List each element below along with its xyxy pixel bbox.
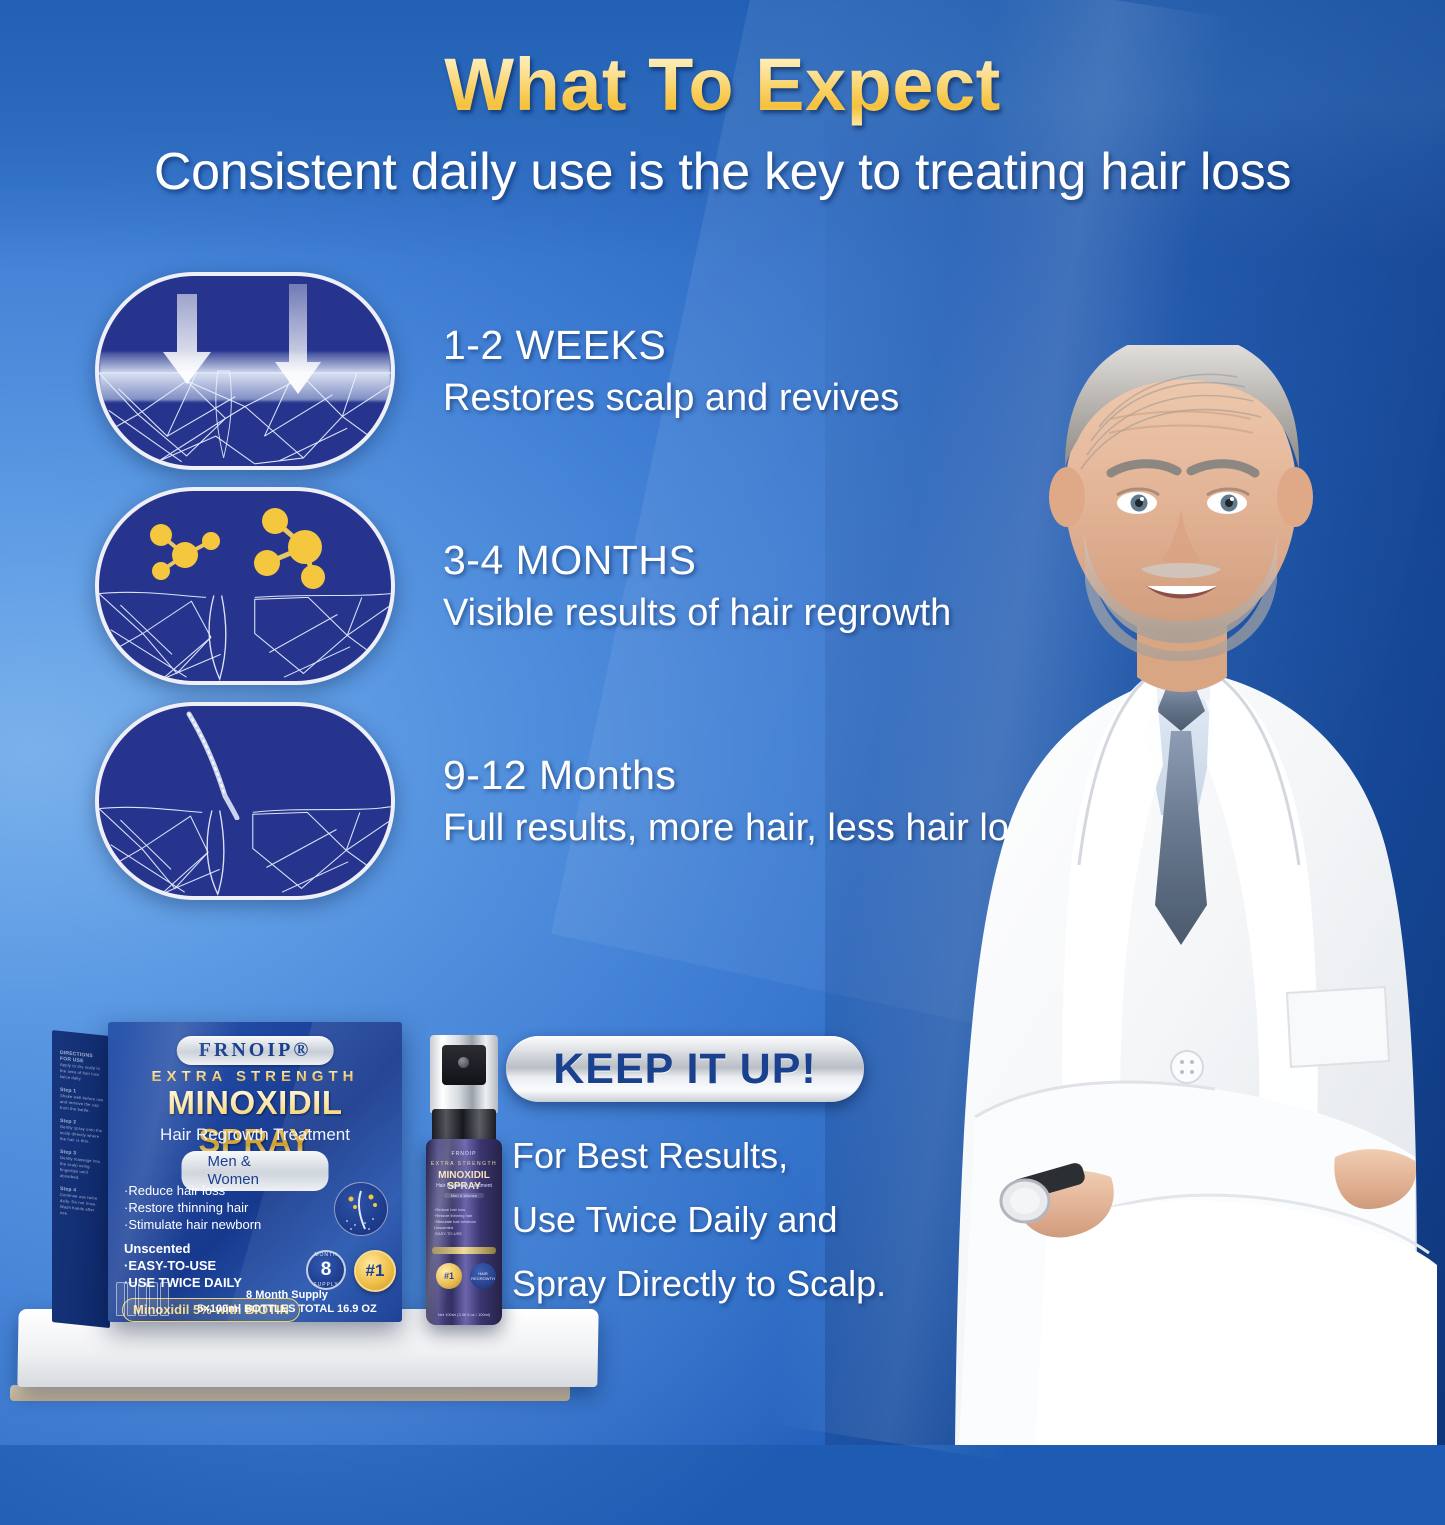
bottle-regrowth-badge: HAIR REGROWTH — [470, 1263, 496, 1289]
skin-mesh-layer — [99, 367, 391, 466]
podium-edge — [10, 1385, 570, 1401]
usage-line-3: Spray Directly to Scalp. — [512, 1263, 886, 1305]
bottle-brand: FRNOIP — [426, 1151, 502, 1157]
keep-it-up-label: KEEP IT UP! — [553, 1045, 816, 1094]
bottle-feature-2: ·EASY-TO-USE — [434, 1231, 476, 1237]
product-benefits: ·Reduce hair loss ·Restore thinning hair… — [124, 1182, 261, 1233]
page-subtitle: Consistent daily use is the key to treat… — [0, 142, 1445, 202]
supply-badge-ring: MONTH SUPPLY — [307, 1251, 345, 1289]
molecule-small-icon — [139, 519, 235, 585]
product-tagline: Hair Regrowth Treatment — [108, 1125, 402, 1145]
timeline-period-2: 3-4 MONTHS — [443, 537, 951, 584]
product-box-side-panel: DIRECTIONS FOR USE Apply to dry scalp in… — [52, 1030, 110, 1328]
doctor-head — [1049, 345, 1313, 661]
bottle-bullets: ·Reduce hair loss ·Restore thinning hair… — [434, 1207, 476, 1237]
timeline-description-1: Restores scalp and revives — [443, 377, 899, 420]
bottle-collar — [432, 1109, 496, 1143]
grown-hair-icon — [95, 702, 395, 900]
rank-badge: #1 — [354, 1250, 396, 1292]
molecule-follicle-icon — [95, 487, 395, 685]
bottle-strength: EXTRA STRENGTH — [426, 1161, 502, 1167]
bottle-body: FRNOIP EXTRA STRENGTH MINOXIDIL SPRAY Ha… — [426, 1139, 502, 1325]
bottle-rank-badge: #1 — [436, 1263, 462, 1289]
skin-mesh-layer — [99, 586, 391, 681]
lab-coat — [955, 667, 1437, 1445]
product-features: Unscented ·EASY-TO-USE ·USE TWICE DAILY — [124, 1240, 242, 1291]
bottle-audience: Men & Women — [444, 1193, 484, 1198]
directions-step-1: Step 1 — [60, 1087, 104, 1098]
timeline-text-2: 3-4 MONTHS Visible results of hair regro… — [443, 537, 951, 635]
keep-it-up-badge: KEEP IT UP! — [506, 1036, 864, 1102]
supply-badge-top: MONTH — [314, 1252, 337, 1258]
doctor-illustration — [915, 345, 1445, 1445]
absorption-arrow-left-icon — [161, 294, 213, 386]
timeline-period-1: 1-2 WEEKS — [443, 322, 899, 369]
product-box-front: FRNOIP® EXTRA STRENGTH MINOXIDIL SPRAY H… — [108, 1022, 402, 1322]
usage-instructions: For Best Results, Use Twice Daily and Sp… — [512, 1135, 886, 1327]
benefit-1: ·Reduce hair loss — [124, 1182, 261, 1199]
timeline-description-2: Visible results of hair regrowth — [443, 592, 951, 635]
supply-line-1: 8 Month Supply — [178, 1288, 396, 1302]
scalp-absorption-icon — [95, 272, 395, 470]
absorption-arrow-right-icon — [275, 284, 323, 396]
bottle-gold-band — [432, 1247, 496, 1254]
benefit-2: ·Restore thinning hair — [124, 1199, 261, 1216]
bottle-nozzle — [442, 1045, 486, 1085]
hair-strand-icon — [155, 710, 275, 820]
benefit-3: ·Stimulate hair newborn — [124, 1216, 261, 1233]
mesh-graphic — [99, 586, 391, 681]
brand-plate: FRNOIP® — [177, 1036, 334, 1065]
page-title: What To Expect — [0, 42, 1445, 127]
directions-text: DIRECTIONS FOR USE Apply to dry scalp in… — [60, 1043, 104, 1316]
bottle-tagline: Hair Regrowth Treatment — [426, 1183, 502, 1189]
scalp-illustration-badge — [334, 1182, 388, 1236]
product-name: MINOXIDIL SPRAY — [108, 1084, 402, 1160]
usage-line-2: Use Twice Daily and — [512, 1199, 886, 1241]
timeline-item-2: 3-4 MONTHS Visible results of hair regro… — [95, 487, 951, 685]
doctor-photo — [915, 345, 1445, 1445]
timeline-item-1: 1-2 WEEKS Restores scalp and revives — [95, 272, 899, 470]
directions-heading: DIRECTIONS FOR USE — [60, 1050, 104, 1067]
brand-name: FRNOIP® — [199, 1039, 312, 1061]
supply-info: 8 Month Supply 5×100ml BOTTLES TOTAL 16.… — [178, 1288, 396, 1316]
directions-step-2: Step 2 — [60, 1118, 104, 1129]
bottle-benefit-3: ·Stimulate hair newborn — [434, 1219, 476, 1225]
product-box: DIRECTIONS FOR USE Apply to dry scalp in… — [52, 1022, 402, 1327]
bottle-count-graphic — [116, 1282, 169, 1316]
timeline-text-1: 1-2 WEEKS Restores scalp and revives — [443, 322, 899, 420]
bottle-volume: Net 100ml (3.38 fl.oz / 100ml) — [426, 1312, 502, 1317]
feature-2: ·EASY-TO-USE — [124, 1257, 242, 1274]
scalp-badge-graphic — [335, 1183, 388, 1236]
directions-step-3: Step 3 — [60, 1149, 104, 1160]
product-strength: EXTRA STRENGTH — [108, 1068, 402, 1085]
usage-line-1: For Best Results, — [512, 1135, 886, 1177]
molecule-large-icon — [241, 507, 351, 591]
supply-line-2: 5×100ml BOTTLES TOTAL 16.9 OZ — [178, 1302, 396, 1316]
mesh-graphic — [99, 367, 391, 466]
spray-bottle: FRNOIP EXTRA STRENGTH MINOXIDIL SPRAY Ha… — [418, 1035, 510, 1325]
directions-step-4: Step 4 — [60, 1186, 104, 1197]
supply-badge: MONTH SUPPLY 8 — [306, 1250, 346, 1290]
feature-1: Unscented — [124, 1240, 242, 1257]
timeline-item-3: 9-12 Months Full results, more hair, les… — [95, 702, 1047, 900]
